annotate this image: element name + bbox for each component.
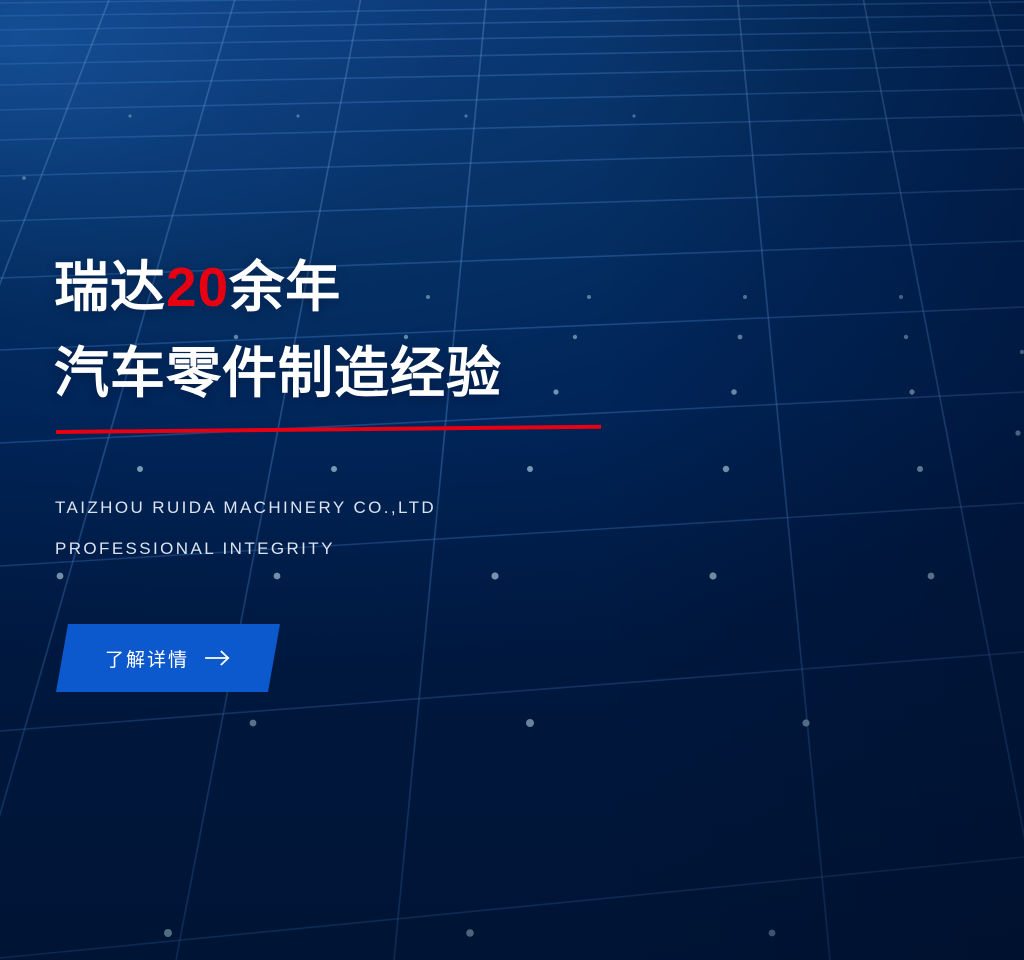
headline-line-2: 汽车零件制造经验 (54, 330, 502, 416)
arrow-right-icon (205, 650, 231, 666)
headline-accent-number: 20 (166, 256, 229, 318)
headline-line-1: 瑞达20余年 (54, 244, 502, 330)
page-title: 瑞达20余年 汽车零件制造经验 (54, 244, 502, 416)
subtitle-line-2: PROFESSIONAL INTEGRITY (55, 528, 436, 569)
learn-more-button-label: 了解详情 (105, 645, 189, 672)
headline-suffix: 余年 (229, 256, 341, 318)
subtitle-line-1: TAIZHOU RUIDA MACHINERY CO.,LTD (55, 487, 436, 528)
hero-content: 瑞达20余年 汽车零件制造经验 TAIZHOU RUIDA MACHINERY … (0, 0, 1024, 960)
red-rule-divider (56, 425, 601, 434)
headline-prefix: 瑞达 (54, 256, 166, 318)
learn-more-button-inner: 了解详情 (62, 624, 274, 692)
hero-subtitle: TAIZHOU RUIDA MACHINERY CO.,LTD PROFESSI… (55, 487, 436, 569)
hero-banner: 瑞达20余年 汽车零件制造经验 TAIZHOU RUIDA MACHINERY … (0, 0, 1024, 960)
learn-more-button[interactable]: 了解详情 (56, 624, 280, 692)
